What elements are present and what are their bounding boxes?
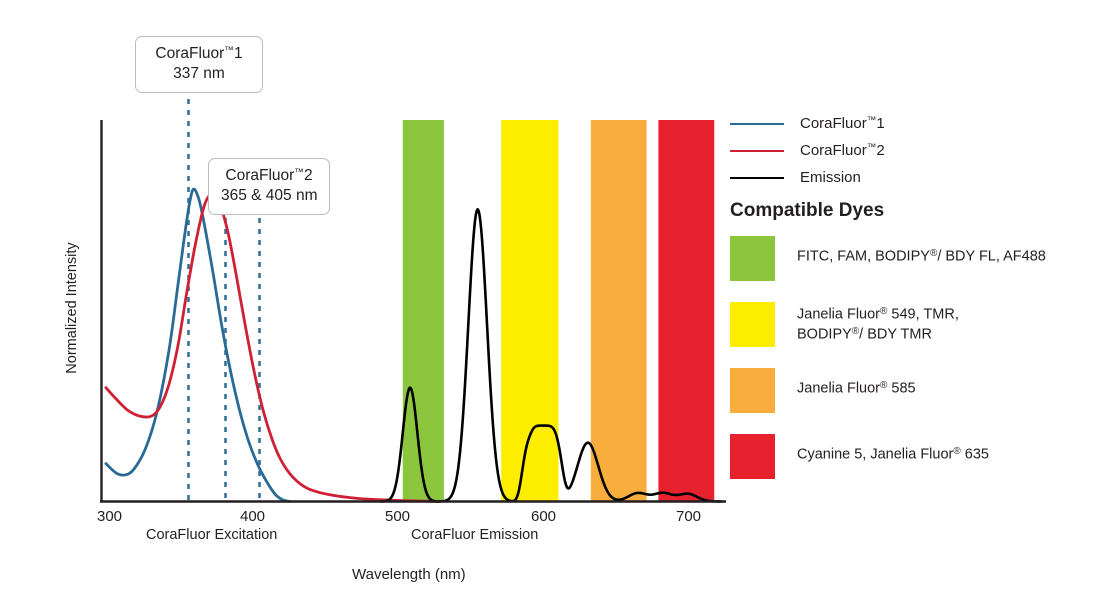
trademark-symbol: ™: [294, 167, 304, 178]
dye-row-1: FITC, FAM, BODIPY®/ BDY FL, AF488: [730, 236, 1110, 281]
series-legend: CoraFluor™1CoraFluor™2Emission: [730, 110, 1102, 191]
dye-row-3: Janelia Fluor® 585: [730, 368, 1110, 413]
legend-label: CoraFluor™1: [800, 115, 885, 132]
x-tick-600: 600: [531, 508, 556, 525]
x-tick-500: 500: [385, 508, 410, 525]
dye-row-2: Janelia Fluor® 549, TMR,BODIPY®/ BDY TMR: [730, 302, 1110, 347]
trademark-symbol: ™: [867, 115, 877, 126]
registered-symbol: ®: [930, 248, 937, 259]
trademark-symbol: ™: [224, 45, 234, 56]
callout-corafluor2-line2: 365 & 405 nm: [221, 186, 317, 206]
registered-symbol: ®: [880, 380, 887, 391]
x-axis-title: Wavelength (nm): [352, 566, 466, 583]
dye-label-line: FITC, FAM, BODIPY®/ BDY FL, AF488: [797, 247, 1046, 267]
band-green: [403, 120, 444, 502]
spectra-plot: Normalized Intensity 300 400 500 600 700…: [0, 0, 740, 612]
registered-symbol: ®: [880, 306, 887, 317]
callout-corafluor1-line1: CoraFluor™1: [148, 44, 250, 64]
legend-row-1: CoraFluor™1: [730, 110, 1102, 137]
dye-label: Janelia Fluor® 585: [797, 368, 916, 399]
dye-label: FITC, FAM, BODIPY®/ BDY FL, AF488: [797, 236, 1046, 267]
dye-color-swatch: [730, 368, 775, 413]
registered-symbol: ®: [852, 326, 859, 337]
dye-label: Janelia Fluor® 549, TMR,BODIPY®/ BDY TMR: [797, 302, 959, 345]
legend-row-2: CoraFluor™2: [730, 137, 1102, 164]
legend-line-swatch: [730, 123, 784, 125]
callout-corafluor2: CoraFluor™2 365 & 405 nm: [208, 158, 330, 215]
band-yellow: [501, 120, 558, 502]
x-tick-700: 700: [676, 508, 701, 525]
curve-corafluor2: [106, 194, 440, 502]
callout-corafluor1: CoraFluor™1 337 nm: [135, 36, 263, 93]
callout-corafluor1-line2: 337 nm: [148, 64, 250, 84]
legend-row-3: Emission: [730, 164, 1102, 191]
compatible-dyes-list: FITC, FAM, BODIPY®/ BDY FL, AF488Janelia…: [730, 236, 1110, 500]
dye-color-swatch: [730, 302, 775, 347]
dye-label-line: BODIPY®/ BDY TMR: [797, 325, 959, 345]
band-red: [658, 120, 714, 502]
emission-range-label: CoraFluor Emission: [411, 527, 538, 543]
dye-label-line: Janelia Fluor® 585: [797, 379, 916, 399]
dye-color-swatch: [730, 236, 775, 281]
dye-label-line: Janelia Fluor® 549, TMR,: [797, 305, 959, 325]
legend-label: CoraFluor™2: [800, 142, 885, 159]
y-axis-label: Normalized Intensity: [64, 228, 80, 388]
dye-label-line: Cyanine 5, Janelia Fluor® 635: [797, 445, 989, 465]
registered-symbol: ®: [953, 446, 960, 457]
legend-line-swatch: [730, 150, 784, 152]
dye-color-swatch: [730, 434, 775, 479]
x-tick-300: 300: [97, 508, 122, 525]
excitation-range-label: CoraFluor Excitation: [146, 527, 277, 543]
callout-corafluor2-line1: CoraFluor™2: [221, 166, 317, 186]
legend-line-swatch: [730, 177, 784, 179]
trademark-symbol: ™: [867, 142, 877, 153]
x-tick-400: 400: [240, 508, 265, 525]
figure-root: Normalized Intensity 300 400 500 600 700…: [0, 0, 1110, 612]
compatible-dyes-title: Compatible Dyes: [730, 200, 884, 222]
dye-row-4: Cyanine 5, Janelia Fluor® 635: [730, 434, 1110, 479]
band-orange: [591, 120, 647, 502]
legend-label: Emission: [800, 169, 861, 186]
dye-label: Cyanine 5, Janelia Fluor® 635: [797, 434, 989, 465]
